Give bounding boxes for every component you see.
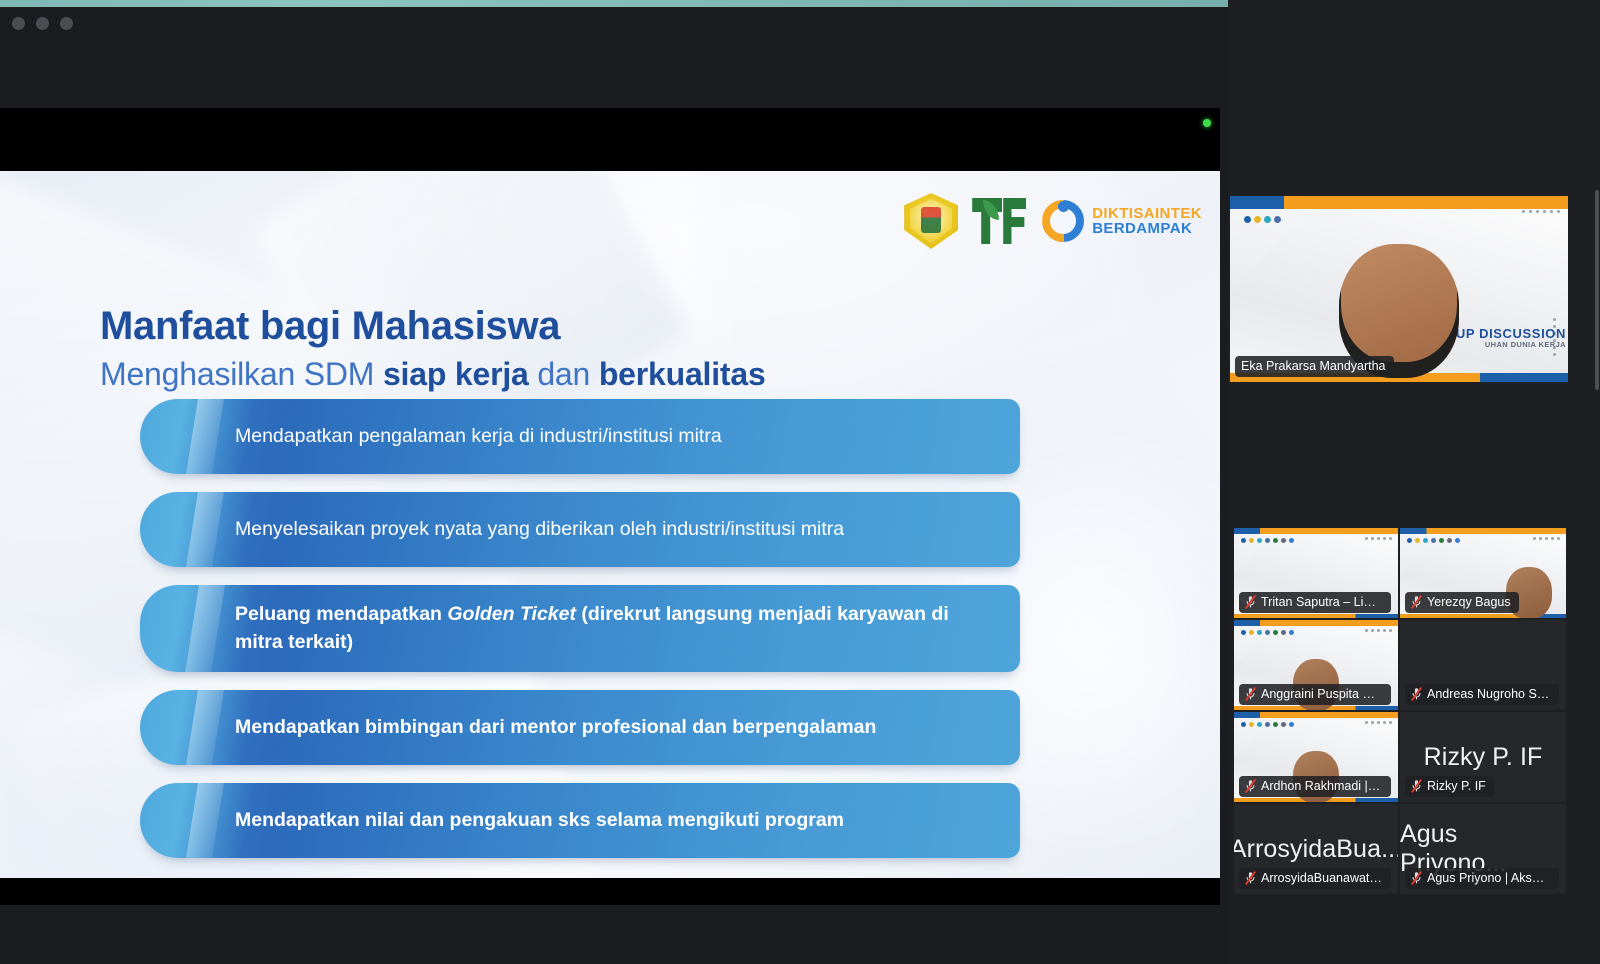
upn-jawa-timur-logo [904,193,958,249]
participant-name: Ardhon Rakhmadi | UP... [1261,779,1383,793]
backdrop-banner-line1: OUP DISCUSSION [1445,327,1566,341]
backdrop-dots-decoration [1365,537,1392,540]
slide-benefit-bar: Mendapatkan nilai dan pengakuan sks sela… [140,783,1020,858]
participant-video-person [1339,244,1459,371]
mic-muted-icon [1411,687,1422,701]
participant-nameplate: Andreas Nugroho Siha... [1405,684,1559,705]
maximize-dot[interactable] [60,17,73,30]
participant-rail[interactable]: OUP DISCUSSION UHAN DUNIA KERJA Eka Prak… [1228,0,1600,964]
participant-nameplate: ArrosyidaBuanawati_V... [1239,868,1391,889]
participant-tile[interactable]: Agus Priyono...Agus Priyono | Aksam... [1400,804,1566,894]
slide-subtitle-bold-2: berkualitas [599,356,766,392]
participant-tile[interactable]: Andreas Nugroho Siha... [1400,620,1566,710]
participant-rail-scrollbar[interactable] [1595,190,1599,390]
slide-subtitle-part-2: dan [529,356,599,392]
participant-nameplate: Eka Prakarsa Mandyartha [1235,356,1394,377]
slide-logo-row: DIKTISAINTEK BERDAMPAK [904,193,1202,249]
participant-name: Agus Priyono | Aksam... [1427,871,1551,885]
slide-benefit-bar: Mendapatkan bimbingan dari mentor profes… [140,690,1020,765]
participant-name: Eka Prakarsa Mandyartha [1241,359,1386,373]
slide-title: Manfaat bagi Mahasiswa [100,304,766,349]
app-window: DIKTISAINTEK BERDAMPAK Manfaat bagi Maha… [0,0,1600,964]
tf-green-logo [972,198,1026,244]
close-dot[interactable] [12,17,25,30]
mic-muted-icon [1245,779,1256,793]
slide-subtitle-bold-1: siap kerja [383,356,529,392]
participant-nameplate: Ardhon Rakhmadi | UP... [1239,776,1391,797]
participant-nameplate: Agus Priyono | Aksam... [1405,868,1559,889]
backdrop-logo-strip [1244,216,1281,223]
mic-muted-icon [1411,871,1422,885]
participant-name: Yerezqy Bagus [1427,595,1511,609]
diktisaintek-berdampak-logo: DIKTISAINTEK BERDAMPAK [1040,198,1202,244]
backdrop-dots-decoration [1522,210,1560,213]
participant-nameplate: Yerezqy Bagus [1405,592,1519,613]
backdrop-logo-strip [1407,538,1460,543]
participant-name: Anggraini Puspita Sari... [1261,687,1383,701]
participant-name: Tritan Saputra – LimaB... [1261,595,1383,609]
participant-tile[interactable]: Ardhon Rakhmadi | UP... [1234,712,1398,802]
dikti-logo-line1: DIKTISAINTEK [1092,206,1202,221]
mic-muted-icon [1245,595,1256,609]
participant-tile-main[interactable]: OUP DISCUSSION UHAN DUNIA KERJA Eka Prak… [1230,196,1568,382]
mic-muted-icon [1411,595,1422,609]
participant-nameplate: Anggraini Puspita Sari... [1239,684,1391,705]
participant-nameplate: Rizky P. IF [1405,776,1494,797]
mic-muted-icon [1411,779,1422,793]
participant-tile[interactable]: ArrosyidaBua...ArrosyidaBuanawati_V... [1234,804,1398,894]
shared-screen-stage[interactable]: DIKTISAINTEK BERDAMPAK Manfaat bagi Maha… [0,108,1220,905]
screen-share-recording-dot [1203,119,1211,127]
minimize-dot[interactable] [36,17,49,30]
backdrop-banner-line2: UHAN DUNIA KERJA [1445,341,1566,349]
dikti-swoosh-icon [1040,198,1086,244]
mic-muted-icon [1245,687,1256,701]
slide-subtitle: Menghasilkan SDM siap kerja dan berkuali… [100,356,766,394]
participant-name: Rizky P. IF [1427,779,1486,793]
mic-muted-icon [1245,871,1256,885]
backdrop-banner-text: OUP DISCUSSION UHAN DUNIA KERJA [1445,327,1566,349]
slide-benefit-bar: Mendapatkan pengalaman kerja di industri… [140,399,1020,474]
slide-benefit-list: Mendapatkan pengalaman kerja di industri… [140,399,1020,876]
slide-benefit-text: Mendapatkan nilai dan pengakuan sks sela… [140,794,874,848]
participant-tile[interactable]: Tritan Saputra – LimaB... [1234,528,1398,618]
slide-benefit-text: Menyelesaikan proyek nyata yang diberika… [140,503,874,557]
participant-nameplate: Tritan Saputra – LimaB... [1239,592,1391,613]
slide-heading-block: Manfaat bagi Mahasiswa Menghasilkan SDM … [100,304,766,394]
window-controls[interactable] [12,17,73,30]
participant-name: Andreas Nugroho Siha... [1427,687,1551,701]
participant-tile[interactable]: Yerezqy Bagus [1400,528,1566,618]
participant-name: ArrosyidaBuanawati_V... [1261,871,1383,885]
slide-benefit-bar: Menyelesaikan proyek nyata yang diberika… [140,492,1020,567]
participant-display-name: Rizky P. IF [1424,743,1543,772]
backdrop-logo-strip [1241,538,1294,543]
backdrop-dots-decoration [1533,537,1560,540]
backdrop-logo-strip [1241,722,1294,727]
slide-benefit-bar: Peluang mendapatkan Golden Ticket (direk… [140,585,1020,672]
backdrop-dots-decoration [1365,721,1392,724]
participant-display-name: ArrosyidaBua... [1234,835,1398,864]
backdrop-logo-strip [1241,630,1294,635]
slide-benefit-text: Peluang mendapatkan Golden Ticket (direk… [140,588,1020,669]
slide-subtitle-part-1: Menghasilkan SDM [100,356,383,392]
slide-benefit-text: Mendapatkan bimbingan dari mentor profes… [140,701,906,755]
presentation-slide: DIKTISAINTEK BERDAMPAK Manfaat bagi Maha… [0,171,1220,878]
participant-tile[interactable]: Rizky P. IFRizky P. IF [1400,712,1566,802]
dikti-logo-line2: BERDAMPAK [1092,221,1202,236]
backdrop-dots-decoration [1365,629,1392,632]
participant-tile[interactable]: Anggraini Puspita Sari... [1234,620,1398,710]
slide-benefit-text: Mendapatkan pengalaman kerja di industri… [140,410,752,464]
